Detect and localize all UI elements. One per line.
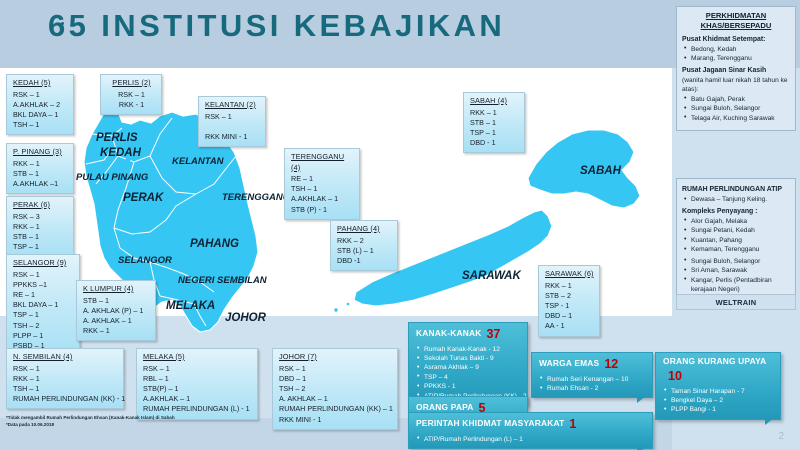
state-box-kedah: KEDAH (5)RSK – 1A.AKHLAK – 2BKL DAYA – 1… — [6, 74, 74, 135]
category-card-perintah-khidmat-masyarakat: PERINTAH KHIDMAT MASYARAKAT1ATIP/Rumah P… — [408, 412, 653, 449]
slide-root: 65 INSTITUSI KEBAJIKAN — [0, 0, 800, 450]
state-box-header: JOHOR (7) — [279, 352, 392, 363]
state-box-line: RSK – 1 — [279, 364, 392, 374]
category-header: KANAK-KANAK37 — [416, 326, 521, 344]
category-card-kanak-kanak: KANAK-KANAK37Rumah Kanak-Kanak - 12Sekol… — [408, 322, 528, 406]
sidebar-sections: Pusat Khidmat Setempat:Bedong, KedahMara… — [682, 35, 790, 124]
state-box-line: TSP – 1 — [470, 128, 519, 138]
sidebar-list-item: Kangar, Perlis (Pentadbiran kerajaan Neg… — [682, 276, 790, 295]
category-item: Rumah Kanak-Kanak - 12 — [416, 345, 521, 354]
category-item: Taman Sinar Harapan - 7 — [663, 387, 774, 396]
state-box-line: RSK – 1 — [143, 364, 252, 374]
map-label-johor: JOHOR — [225, 312, 266, 324]
state-box-line: A. AKHLAK – 1 — [83, 316, 150, 326]
category-title: WARGA EMAS — [539, 358, 599, 370]
map-label-kelantan: KELANTAN — [172, 156, 224, 167]
state-box-sarawak: SARAWAK (6)RKK – 1STB – 2TSP - 1DBD – 1A… — [538, 265, 600, 337]
state-box-line: RUMAH PERLINDUNGAN (KK) – 1 — [279, 404, 392, 414]
state-box-line: A. AKHLAK – 1 — [279, 394, 392, 404]
category-title: ORANG KURANG UPAYA — [663, 356, 766, 368]
category-item: Bengkel Daya – 2 — [663, 396, 774, 405]
state-box-k-lumpur: K LUMPUR (4)STB – 1A. AKHLAK (P) – 1A. A… — [76, 280, 156, 341]
card-tail-shape — [765, 418, 774, 425]
state-box-line — [205, 122, 260, 132]
category-item-list: ATIP/Rumah Perlindungan (L) – 1 — [416, 435, 646, 444]
state-box-line: STB (P) - 1 — [291, 205, 354, 215]
category-item: ATIP/Rumah Perlindungan (L) – 1 — [416, 435, 646, 444]
state-box-line: STB – 1 — [470, 118, 519, 128]
state-box-line: PPKKS –1 — [13, 280, 74, 290]
state-box-header: KELANTAN (2) — [205, 100, 260, 111]
state-box-line: RKK - 1 — [107, 100, 156, 110]
state-box-line: RSK – 1 — [13, 90, 68, 100]
state-box-p-pinang: P. PINANG (3)RKK – 1STB – 1A.AKHLAK –1 — [6, 143, 74, 194]
state-box-header: PAHANG (4) — [337, 224, 392, 235]
page-number: 2 — [778, 431, 784, 442]
sidebar-list-item: Alor Gajah, Melaka — [682, 217, 790, 227]
sidebar-title-line1: PERKHIDMATAN — [682, 11, 790, 21]
sidebar-list-item: Sungai Buloh, Selangor — [682, 257, 790, 267]
sidebar-list-item: Telaga Air, Kuching Sarawak — [682, 114, 790, 124]
map-label-selangor: SELANGOR — [118, 255, 172, 266]
category-card-warga-emas: WARGA EMAS12Rumah Seri Kenangan – 10Ruma… — [531, 352, 653, 398]
state-box-line: TSP – 1 — [13, 242, 68, 252]
category-item-list: Rumah Seri Kenangan – 10Rumah Ehsan - 2 — [539, 375, 646, 394]
state-box-header: SABAH (4) — [470, 96, 519, 107]
state-box-line: RE – 1 — [13, 290, 74, 300]
state-box-line: TSH – 1 — [13, 384, 118, 394]
state-box-line: STB (L) – 1 — [337, 246, 392, 256]
category-header: WARGA EMAS12 — [539, 356, 646, 374]
card-tail-shape — [637, 396, 646, 403]
state-box-header: P. PINANG (3) — [13, 147, 68, 158]
map-label-sarawak: SARAWAK — [462, 270, 521, 282]
sidebar-section-heading: RUMAH PERLINDUNGAN ATIP — [682, 185, 790, 195]
state-box-line: RKK – 1 — [13, 222, 68, 232]
state-box-line: STB – 1 — [83, 296, 150, 306]
sidebar-section-heading: Pusat Khidmat Setempat: — [682, 35, 790, 45]
map-label-pahang: PAHANG — [190, 238, 239, 250]
state-box-terengganu: TERENGGANU (4)RE – 1TSH – 1A.AKHLAK – 1S… — [284, 148, 360, 220]
state-box-line: TSP - 1 — [545, 301, 594, 311]
state-box-line: RE – 1 — [291, 174, 354, 184]
sidebar-title-line2: KHAS/BERSEPADU — [682, 21, 790, 31]
state-box-line: RKK MINI - 1 — [205, 132, 260, 142]
map-label-sabah: SABAH — [580, 165, 621, 177]
map-label-kedah: KEDAH — [100, 147, 141, 159]
map-label-negeri-sembilan: NEGERI SEMBILAN — [178, 275, 267, 286]
state-box-line: RKK – 1 — [83, 326, 150, 336]
state-box-line: RKK – 1 — [545, 281, 594, 291]
state-box-line: RKK – 1 — [470, 108, 519, 118]
state-box-header: PERAK (6) — [13, 200, 68, 211]
sidebar-list-item: Batu Gajah, Perak — [682, 95, 790, 105]
sidebar-sections-2: RUMAH PERLINDUNGAN ATIPDewasa – Tanjung … — [682, 185, 790, 295]
category-count: 10 — [668, 369, 682, 383]
state-box-line: A.AKHLAK – 2 — [13, 100, 68, 110]
state-box-line: TSH – 1 — [291, 184, 354, 194]
state-box-line: STB – 1 — [13, 169, 68, 179]
category-item: TSP – 4 — [416, 373, 521, 382]
sidebar-list-item: Marang, Terengganu — [682, 54, 790, 64]
state-box-perlis: PERLIS (2)RSK – 1RKK - 1 — [100, 74, 162, 115]
state-box-line: A.AKHLAK –1 — [13, 179, 68, 189]
state-box-line: RSK – 1 — [13, 364, 118, 374]
state-box-line: TSH – 1 — [13, 120, 68, 130]
category-item: Rumah Seri Kenangan – 10 — [539, 375, 646, 384]
state-box-line: RKK – 1 — [13, 374, 118, 384]
sidebar-list-item: Sri Aman, Sarawak — [682, 266, 790, 276]
state-box-line: TSH – 2 — [279, 384, 392, 394]
footnote: *Tidak mengambil Rumah Perlindungan Ehsa… — [6, 415, 336, 429]
state-box-line: RBL – 1 — [143, 374, 252, 384]
state-box-line: BKL DAYA – 1 — [13, 110, 68, 120]
sidebar-section-heading: Pusat Jagaan Sinar Kasih — [682, 66, 790, 76]
state-box-line: STB – 1 — [13, 232, 68, 242]
state-box-n-sembilan: N. SEMBILAN (4)RSK – 1RKK – 1TSH – 1RUMA… — [6, 348, 124, 409]
category-title: PERINTAH KHIDMAT MASYARAKAT — [416, 418, 564, 430]
map-label-perak: PERAK — [123, 192, 163, 204]
island-small-2 — [347, 303, 350, 306]
state-box-line: DBD – 1 — [545, 311, 594, 321]
state-box-line: RKK – 1 — [13, 159, 68, 169]
sidebar-title: PERKHIDMATAN KHAS/BERSEPADU — [682, 11, 790, 32]
state-box-line: STB(P) – 1 — [143, 384, 252, 394]
category-item: Sekolah Tunas Bakti - 9 — [416, 354, 521, 363]
sidebar-weltrain-band: WELTRAIN — [676, 294, 796, 310]
category-item: Rumah Ehsan - 2 — [539, 384, 646, 393]
sidebar-item-list: Alor Gajah, MelakaSungai Petani, KedahKu… — [682, 217, 790, 255]
state-box-line: DBD – 1 — [279, 374, 392, 384]
state-box-line: DBD -1 — [337, 256, 392, 266]
state-box-header: N. SEMBILAN (4) — [13, 352, 118, 363]
map-label-perlis: PERLIS — [96, 132, 138, 144]
state-box-line: TSP – 1 — [13, 310, 74, 320]
map-label-pulau-pinang: PULAU PINANG — [76, 172, 148, 183]
category-count: 1 — [569, 417, 576, 431]
state-box-line: TSH – 2 — [13, 321, 74, 331]
sidebar-section-subtext: (wanita hamil luar nikah 18 tahun ke ata… — [682, 76, 790, 95]
sidebar-list-item: Bedong, Kedah — [682, 45, 790, 55]
state-box-header: K LUMPUR (4) — [83, 284, 150, 295]
state-box-line: RSK – 3 — [13, 212, 68, 222]
state-box-line: RSK – 1 — [107, 90, 156, 100]
map-label-melaka: MELAKA — [166, 300, 215, 312]
state-box-sabah: SABAH (4)RKK – 1STB – 1TSP – 1DBD - 1 — [463, 92, 525, 153]
state-box-line: STB – 2 — [545, 291, 594, 301]
category-item: PLPP Bangi - 1 — [663, 405, 774, 414]
category-title: KANAK-KANAK — [416, 328, 481, 340]
footnote-line-1: *Tidak mengambil Rumah Perlindungan Ehsa… — [6, 415, 336, 422]
state-box-line: A.AKHLAK – 1 — [143, 394, 252, 404]
sidebar-item-list: Sungai Buloh, SelangorSri Aman, SarawakK… — [682, 257, 790, 295]
sidebar-panel-services: PERKHIDMATAN KHAS/BERSEPADU Pusat Khidma… — [676, 6, 796, 131]
sidebar-item-list: Bedong, KedahMarang, Terengganu — [682, 45, 790, 64]
state-box-header: KEDAH (5) — [13, 78, 68, 89]
state-box-perak: PERAK (6)RSK – 3RKK – 1STB – 1TSP – 1 — [6, 196, 74, 257]
state-box-header: PERLIS (2) — [107, 78, 156, 89]
state-box-header: SARAWAK (6) — [545, 269, 594, 280]
state-box-line: PLPP – 1 — [13, 331, 74, 341]
state-box-line: BKL DAYA – 1 — [13, 300, 74, 310]
state-box-header: SELANGOR (9) — [13, 258, 74, 269]
sidebar-list-item: Dewasa – Tanjung Keling. — [682, 195, 790, 205]
state-box-kelantan: KELANTAN (2)RSK – 1 RKK MINI - 1 — [198, 96, 266, 147]
category-item: Asrama Akhlak – 9 — [416, 363, 521, 372]
state-box-line: A. AKHLAK (P) – 1 — [83, 306, 150, 316]
category-card-orang-kurang-upaya: ORANG KURANG UPAYA10Taman Sinar Harapan … — [655, 352, 781, 420]
state-box-melaka: MELAKA (5)RSK – 1RBL – 1STB(P) – 1A.AKHL… — [136, 348, 258, 420]
category-item: PPKKS - 1 — [416, 382, 521, 391]
category-count: 12 — [604, 357, 618, 371]
state-box-line: A.AKHLAK – 1 — [291, 194, 354, 204]
sidebar-section-heading: Kompleks Penyayang : — [682, 207, 790, 217]
state-box-pahang: PAHANG (4)RKK – 2STB (L) – 1DBD -1 — [330, 220, 398, 271]
state-box-line: DBD - 1 — [470, 138, 519, 148]
state-box-header: TERENGGANU (4) — [291, 152, 354, 173]
sidebar-list-item: Sungai Petani, Kedah — [682, 226, 790, 236]
state-box-line: RUMAH PERLINDUNGAN (KK) - 1 — [13, 394, 118, 404]
state-box-line: RUMAH PERLINDUNGAN (L) - 1 — [143, 404, 252, 414]
state-box-header: MELAKA (5) — [143, 352, 252, 363]
sidebar-item-list: Batu Gajah, PerakSungai Buloh, SelangorT… — [682, 95, 790, 124]
footnote-line-2: *Data pada 10.06.2018 — [6, 422, 336, 429]
state-box-line: RKK – 2 — [337, 236, 392, 246]
category-count: 37 — [486, 327, 500, 341]
sidebar-list-item: Sungai Buloh, Selangor — [682, 104, 790, 114]
category-item-list: Rumah Kanak-Kanak - 12Sekolah Tunas Bakt… — [416, 345, 521, 401]
state-box-selangor: SELANGOR (9)RSK – 1PPKKS –1RE – 1BKL DAY… — [6, 254, 80, 356]
category-item-list: Taman Sinar Harapan - 7Bengkel Daya – 2P… — [663, 387, 774, 415]
state-box-line: AA - 1 — [545, 321, 594, 331]
category-header: PERINTAH KHIDMAT MASYARAKAT1 — [416, 416, 646, 434]
page-title: 65 INSTITUSI KEBAJIKAN — [48, 8, 648, 44]
category-header: ORANG KURANG UPAYA10 — [663, 356, 774, 386]
sidebar-list-item: Kuantan, Pahang — [682, 236, 790, 246]
sidebar-item-list: Dewasa – Tanjung Keling. — [682, 195, 790, 205]
state-box-line: RSK – 1 — [205, 112, 260, 122]
map-label-terengganu: TERENGGANU — [222, 192, 290, 203]
island-small-1 — [334, 308, 337, 311]
state-box-line: RSK – 1 — [13, 270, 74, 280]
sidebar-list-item: Kemaman, Terengganu — [682, 245, 790, 255]
sidebar-panel-shelters: RUMAH PERLINDUNGAN ATIPDewasa – Tanjung … — [676, 178, 796, 303]
